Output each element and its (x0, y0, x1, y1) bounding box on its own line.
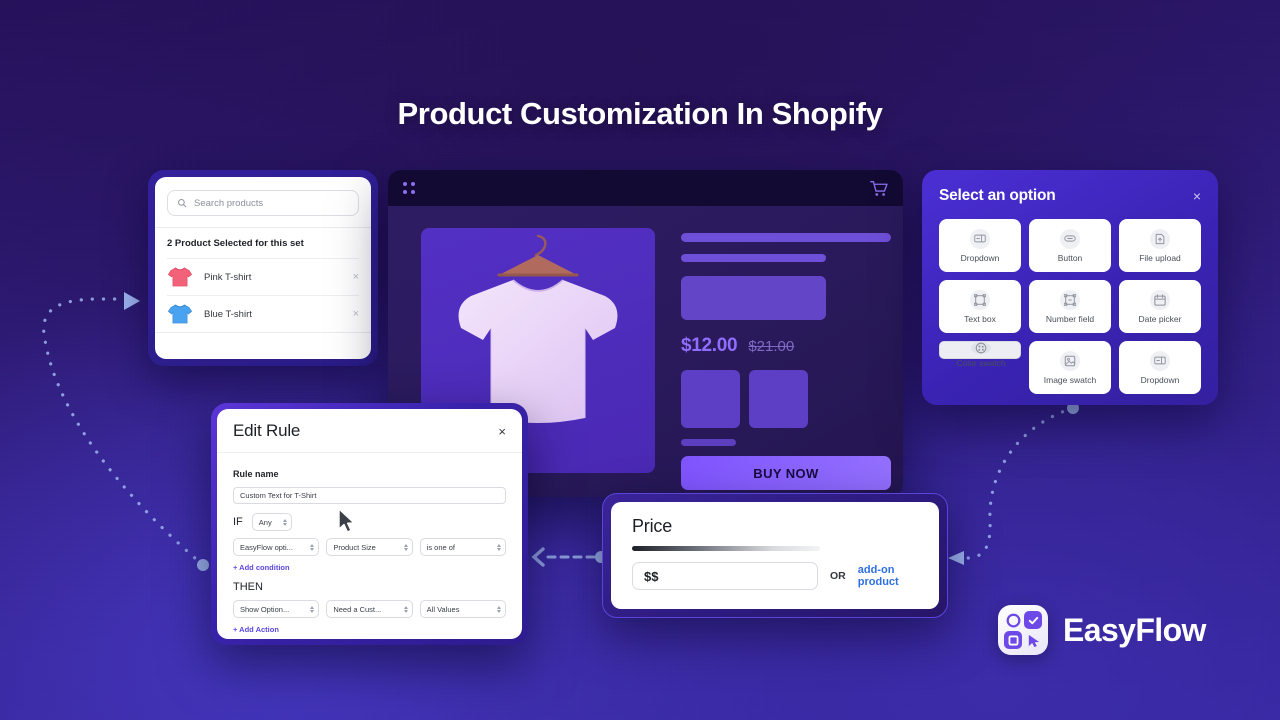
connector-right-path (968, 408, 1073, 558)
variant-thumbnail[interactable] (681, 370, 740, 428)
action-row: Show Option... Need a Cust... All Values (233, 600, 506, 618)
option-tile-label: Image swatch (1044, 375, 1096, 385)
edit-rule-card: Edit Rule × Rule name Custom Text for T-… (217, 409, 522, 639)
list-item-label: Blue T-shirt (204, 309, 342, 320)
chevron-updown-icon (404, 544, 408, 551)
logo-mark (998, 605, 1048, 655)
select-option-panel: Select an option × Dropdown Button (922, 170, 1218, 405)
connector-left-dot (197, 559, 209, 571)
action-values-select[interactable]: All Values (420, 600, 506, 618)
shopping-cart-icon[interactable] (869, 180, 888, 197)
rule-name-input[interactable]: Custom Text for T-Shirt (233, 487, 506, 504)
file-upload-icon (1150, 229, 1170, 249)
dropdown-icon (970, 229, 990, 249)
chevron-updown-icon (497, 606, 501, 613)
condition-field-select[interactable]: EasyFlow opti... (233, 538, 319, 556)
skeleton-title-bar (681, 233, 891, 242)
action-type-select[interactable]: Show Option... (233, 600, 319, 618)
chevron-updown-icon (310, 544, 314, 551)
dropdown-icon (1150, 351, 1170, 371)
option-tile-color-swatch[interactable]: Color swatch (939, 341, 1021, 359)
select-option-header: Select an option × (939, 187, 1201, 205)
current-price: $12.00 (681, 335, 737, 357)
option-tile-dropdown-2[interactable]: Dropdown (1119, 341, 1201, 394)
chevron-updown-icon (497, 544, 501, 551)
option-tile-label: Button (1058, 253, 1083, 263)
skeleton-subtitle-bar (681, 254, 826, 262)
edit-rule-panel: Edit Rule × Rule name Custom Text for T-… (211, 403, 528, 645)
action-values-value: All Values (427, 605, 460, 614)
price-row: $12.00 $21.00 (681, 335, 893, 357)
close-icon[interactable]: × (498, 425, 506, 438)
grid-dots-icon[interactable] (403, 182, 415, 194)
connector-left-arrowhead (124, 292, 140, 310)
price-input[interactable]: $$ (632, 562, 818, 590)
option-tile-file-upload[interactable]: File upload (1119, 219, 1201, 272)
poster-canvas: Product Customization In Shopify Sear (0, 0, 1280, 720)
option-tile-label: Dropdown (961, 253, 1000, 263)
product-detail-skeleton: $12.00 $21.00 BUY NOW (681, 228, 893, 490)
cursor-arrow-icon (1024, 631, 1042, 649)
original-price: $21.00 (748, 338, 794, 355)
if-row: IF Any (233, 513, 506, 531)
or-label: OR (830, 570, 846, 582)
rule-name-label: Rule name (233, 469, 279, 479)
chevron-updown-icon (310, 606, 314, 613)
logo-text: EasyFlow (1063, 612, 1206, 649)
remove-product-button[interactable]: × (353, 272, 359, 283)
option-tile-label: File upload (1139, 253, 1181, 263)
connector-right-arrowhead (948, 551, 964, 565)
option-tile-date-picker[interactable]: Date picker (1119, 280, 1201, 333)
variant-thumbnail[interactable] (749, 370, 808, 428)
option-tile-label: Color swatch (956, 358, 1005, 368)
action-target-select[interactable]: Need a Cust... (326, 600, 412, 618)
product-search-card: Search products 2 Product Selected for t… (155, 177, 371, 359)
condition-row: EasyFlow opti... Product Size is one of (233, 538, 506, 556)
condition-attribute-value: Product Size (333, 543, 376, 552)
list-item-label: Pink T-shirt (204, 272, 342, 283)
price-card: Price $$ OR add-on product (611, 502, 939, 609)
connector-mid-arrowhead (534, 549, 543, 565)
chevron-updown-icon (404, 606, 408, 613)
action-type-value: Show Option... (240, 605, 289, 614)
condition-attribute-select[interactable]: Product Size (326, 538, 412, 556)
price-input-row: $$ OR add-on product (632, 562, 918, 590)
page-title: Product Customization In Shopify (0, 96, 1280, 132)
square-outline-icon (1004, 631, 1022, 649)
close-icon[interactable]: × (1193, 189, 1201, 203)
then-label: THEN (233, 581, 506, 593)
edit-rule-header: Edit Rule × (217, 421, 522, 453)
add-action-button[interactable]: + Add Action (233, 625, 506, 634)
remove-product-button[interactable]: × (353, 309, 359, 320)
button-icon (1060, 229, 1080, 249)
circle-outline-icon (1004, 611, 1022, 629)
option-tile-text-box[interactable]: Text box (939, 280, 1021, 333)
list-item[interactable]: Blue T-shirt × (167, 295, 359, 332)
mockup-top-bar (388, 170, 903, 206)
selected-count-label: 2 Product Selected for this set (167, 228, 359, 258)
price-title: Price (632, 516, 918, 537)
dialog-title: Edit Rule (233, 421, 300, 441)
buy-now-button[interactable]: BUY NOW (681, 456, 891, 490)
price-panel: Price $$ OR add-on product (602, 493, 948, 618)
option-tile-number-field[interactable]: Number field (1029, 280, 1111, 333)
option-tile-label: Date picker (1139, 314, 1182, 324)
condition-operator-select[interactable]: is one of (420, 538, 506, 556)
blue-tshirt-icon (167, 303, 193, 325)
skeleton-description-block (681, 276, 826, 320)
select-option-title: Select an option (939, 187, 1056, 205)
image-swatch-icon (1060, 351, 1080, 371)
add-condition-button[interactable]: + Add condition (233, 563, 506, 572)
if-match-select[interactable]: Any (252, 513, 292, 531)
mouse-cursor-icon (337, 508, 357, 534)
search-input[interactable]: Search products (167, 190, 359, 216)
condition-field-value: EasyFlow opti... (240, 543, 293, 552)
price-gradient-bar (632, 546, 820, 551)
option-grid: Dropdown Button File upload Text box (939, 219, 1201, 394)
easyflow-logo: EasyFlow (998, 605, 1206, 655)
option-tile-button[interactable]: Button (1029, 219, 1111, 272)
variant-thumbnails (681, 370, 893, 428)
option-tile-label: Text box (964, 314, 996, 324)
search-placeholder-text: Search products (194, 198, 263, 209)
list-item[interactable]: Pink T-shirt × (167, 258, 359, 295)
check-icon (1024, 611, 1042, 629)
if-label: IF (233, 516, 243, 528)
skeleton-small-bar (681, 439, 736, 446)
pink-tshirt-icon (167, 266, 193, 288)
option-tile-label: Dropdown (1141, 375, 1180, 385)
condition-operator-value: is one of (427, 543, 455, 552)
if-match-value: Any (259, 518, 272, 527)
option-tile-label: Number field (1046, 314, 1094, 324)
search-icon (177, 198, 187, 208)
color-swatch-icon (971, 342, 991, 354)
date-picker-icon (1150, 290, 1170, 310)
number-field-icon (1060, 290, 1080, 310)
add-on-product-link[interactable]: add-on product (858, 564, 918, 588)
option-tile-dropdown[interactable]: Dropdown (939, 219, 1021, 272)
text-box-icon (970, 290, 990, 310)
product-search-panel: Search products 2 Product Selected for t… (148, 170, 378, 366)
action-target-value: Need a Cust... (333, 605, 381, 614)
chevron-updown-icon (283, 519, 287, 526)
divider (155, 332, 371, 333)
option-tile-image-swatch[interactable]: Image swatch (1029, 341, 1111, 394)
